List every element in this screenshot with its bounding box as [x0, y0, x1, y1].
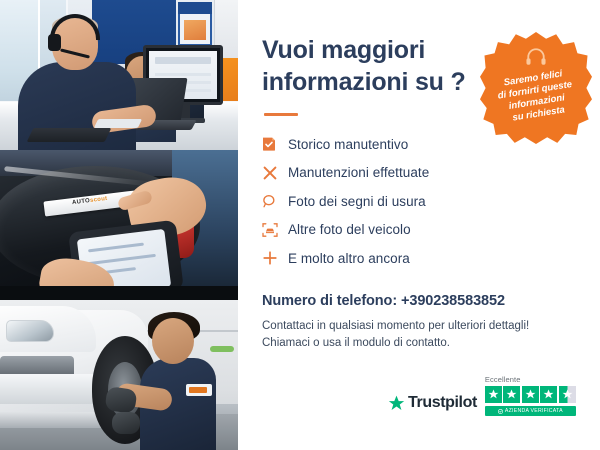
- verified-label: AZIENDA VERIFICATA: [505, 408, 563, 414]
- headline-line-2: informazioni su ?: [262, 66, 472, 98]
- crossed-tools-icon: [262, 165, 288, 181]
- uniform-logo-patch: [186, 384, 212, 396]
- car-inspection-tool-photo: AUTOscout: [0, 150, 238, 300]
- car-headlight: [6, 320, 54, 342]
- mechanic-wheel-check-photo: [0, 300, 238, 450]
- trustpilot-stars: [485, 386, 576, 403]
- phone-line: Numero di telefono: +390238583852: [262, 293, 574, 309]
- contact-block: Numero di telefono: +390238583852 Contat…: [262, 293, 574, 354]
- promo-card: AUTOscout: [0, 0, 600, 450]
- document-check-icon: [262, 136, 288, 152]
- keyboard-front: [27, 128, 112, 142]
- mechanic-head: [152, 318, 194, 364]
- status-badge: AZIENDA VERIFICATA: [485, 406, 576, 416]
- call-centre-agents-photo: [0, 0, 238, 150]
- car-bumper: [0, 374, 104, 404]
- trustpilot-logo: Trustpilot: [388, 394, 477, 416]
- feature-list: Storico manutentivo Manutenzioni effettu…: [262, 130, 574, 273]
- car-scan-icon: [262, 222, 288, 238]
- list-item-label: E molto altro ancora: [288, 251, 410, 266]
- trustpilot-star-icon: [388, 395, 405, 412]
- magnifier-icon: [262, 194, 288, 209]
- list-item-label: Foto dei segni di usura: [288, 194, 426, 209]
- list-item[interactable]: Foto dei segni di usura: [262, 187, 574, 216]
- star-half: [559, 386, 576, 403]
- trustpilot-widget[interactable]: Trustpilot Eccellente: [388, 375, 576, 416]
- monitor-row: [155, 73, 211, 76]
- list-item-label: Manutenzioni effettuate: [288, 165, 429, 180]
- photo-bottom-shadow: [0, 286, 238, 300]
- headline-line-1: Vuoi maggiori: [262, 34, 472, 66]
- monitor-toolbar: [155, 57, 211, 64]
- star-filled: [522, 386, 539, 403]
- title-divider: [264, 113, 298, 116]
- trustpilot-rating-group: Eccellente: [485, 375, 576, 416]
- star-filled: [540, 386, 557, 403]
- phone-number[interactable]: +390238583852: [401, 293, 505, 309]
- verified-check-icon: [498, 409, 503, 414]
- on-request-badge: Saremo felici di fornirti queste informa…: [480, 32, 592, 144]
- list-item-label: Storico manutentivo: [288, 137, 408, 152]
- headset-icon: [525, 47, 547, 72]
- contact-subtext: Contattaci in qualsiasi momento per ulte…: [262, 318, 574, 354]
- phone-label: Numero di telefono:: [262, 293, 401, 309]
- trustpilot-name: Trustpilot: [408, 394, 477, 412]
- wall-poster-header: [178, 2, 212, 14]
- list-item[interactable]: Altre foto del veicolo: [262, 216, 574, 245]
- trustpilot-rating-label: Eccellente: [485, 375, 521, 384]
- contact-subtext-line-1: Contattaci in qualsiasi momento per ulte…: [262, 318, 574, 336]
- photo-column: AUTOscout: [0, 0, 238, 450]
- list-item[interactable]: Manutenzioni effettuate: [262, 159, 574, 188]
- agent-1-headset-earcup: [48, 34, 61, 51]
- star-filled: [503, 386, 520, 403]
- mechanic-glove-lower: [112, 412, 140, 434]
- star-filled: [485, 386, 502, 403]
- list-item[interactable]: E molto altro ancora: [262, 244, 574, 273]
- plus-icon: [262, 250, 288, 266]
- green-tool: [210, 346, 234, 352]
- contact-subtext-line-2: Chiamaci o usa il modulo di contatto.: [262, 335, 574, 353]
- content-panel: Vuoi maggiori informazioni su ? Saremo f…: [238, 0, 600, 450]
- list-item-label: Altre foto del veicolo: [288, 222, 411, 237]
- page-title: Vuoi maggiori informazioni su ?: [262, 34, 472, 98]
- keyboard-back: [94, 119, 142, 128]
- mechanic-glove-upper: [104, 386, 137, 414]
